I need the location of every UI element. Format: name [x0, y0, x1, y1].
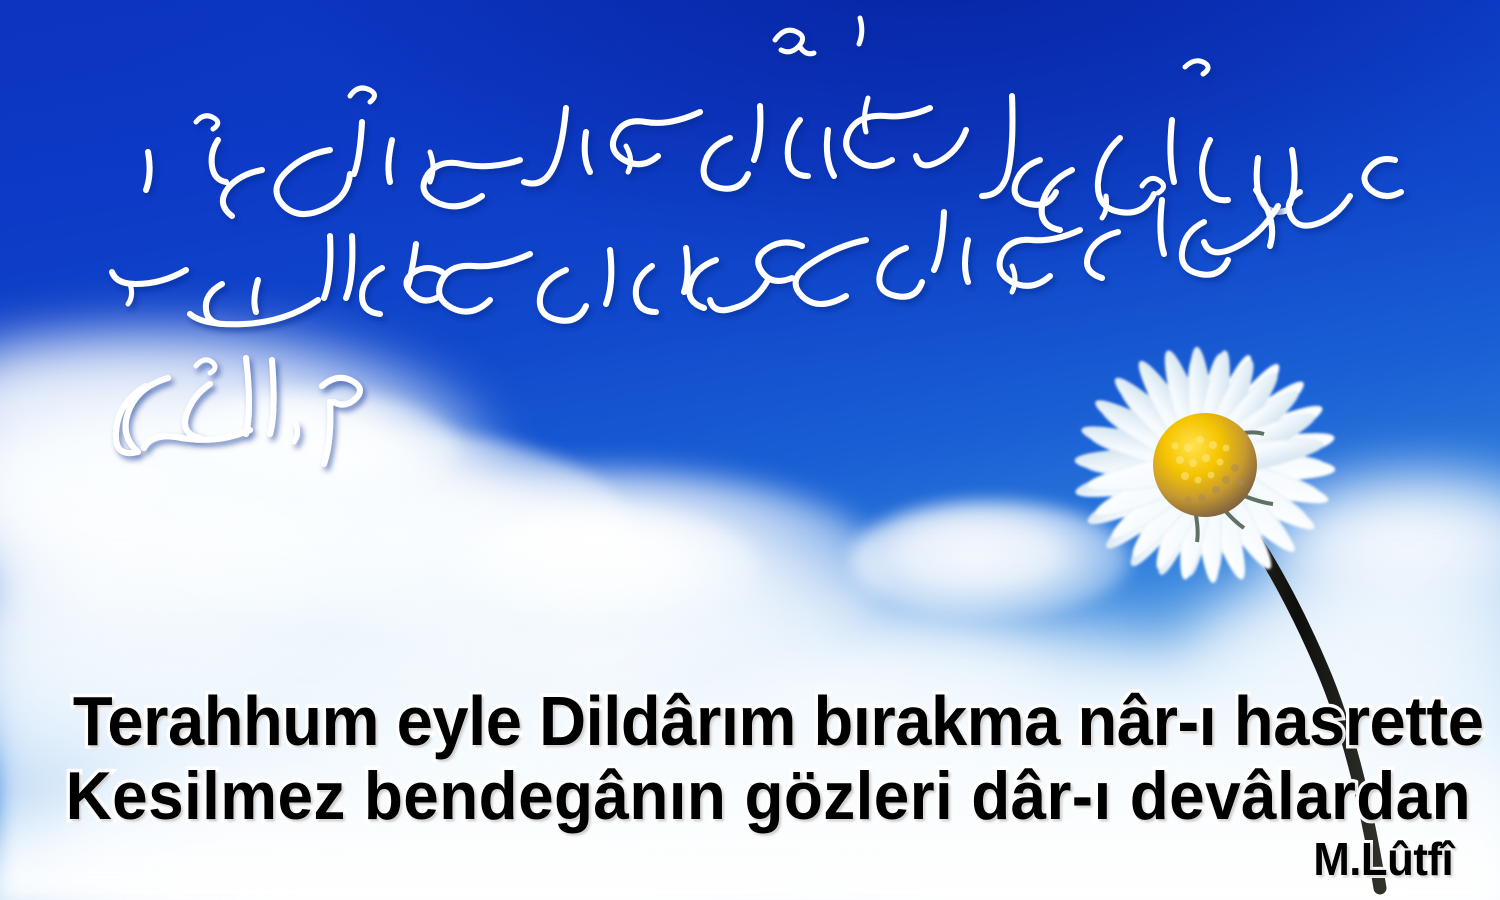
poetry-image-canvas: Terahhum eyle Dildârım bırakma nâr-ı has…: [0, 0, 1500, 900]
poem-text-block: Terahhum eyle Dildârım bırakma nâr-ı has…: [0, 686, 1500, 886]
poem-line-2: Kesilmez bendegânın gözleri dâr-ı devâla…: [66, 762, 1433, 830]
poem-attribution: M.Lûtfî: [95, 832, 1476, 886]
poem-line-1: Terahhum eyle Dildârım bırakma nâr-ı has…: [73, 686, 1425, 756]
